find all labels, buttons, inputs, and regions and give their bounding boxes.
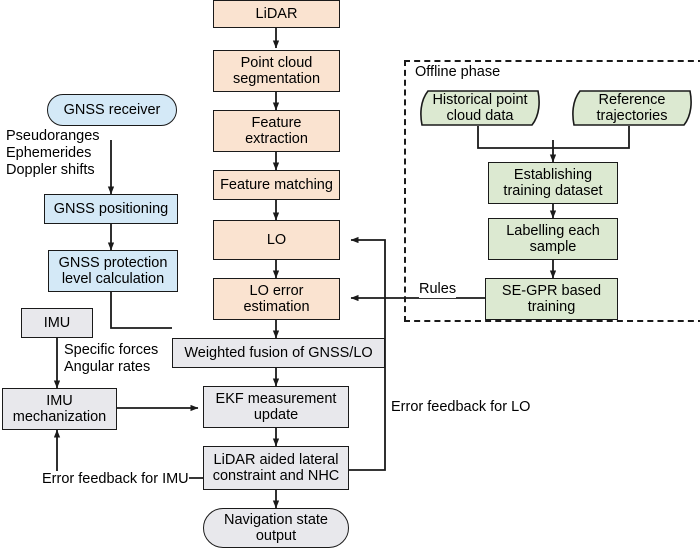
node-lo-label: LO <box>264 232 289 248</box>
node-gnss-positioning[interactable]: GNSS positioning <box>44 194 178 224</box>
node-gnss-protection-level-label: GNSS protection level calculation <box>56 255 171 287</box>
node-historical-point-cloud[interactable]: Historical point cloud data <box>418 88 542 128</box>
node-ekf-measurement-update[interactable]: EKF measurement update <box>203 386 349 428</box>
node-navigation-state-output-label: Navigation state output <box>221 512 331 544</box>
node-feature-matching-label: Feature matching <box>217 177 336 193</box>
node-lidar-aided-lateral-constraint-label: LiDAR aided lateral constraint and NHC <box>210 452 343 484</box>
node-lo-error-estimation[interactable]: LO error estimation <box>213 278 340 320</box>
node-point-cloud-segmentation-label: Point cloud segmentation <box>230 55 323 87</box>
node-segpr-based-training[interactable]: SE-GPR based training <box>485 278 618 320</box>
node-weighted-fusion[interactable]: Weighted fusion of GNSS/LO <box>172 338 385 368</box>
edge-label-error-feedback-imu: Error feedback for IMU <box>42 471 189 488</box>
node-gnss-receiver[interactable]: GNSS receiver <box>47 94 177 126</box>
node-lidar-aided-lateral-constraint[interactable]: LiDAR aided lateral constraint and NHC <box>203 446 349 490</box>
node-point-cloud-segmentation[interactable]: Point cloud segmentation <box>213 50 340 92</box>
node-lidar[interactable]: LiDAR <box>213 0 340 28</box>
node-weighted-fusion-label: Weighted fusion of GNSS/LO <box>181 345 375 361</box>
node-imu-label: IMU <box>41 315 74 331</box>
node-labelling-each-sample-label: Labelling each sample <box>503 223 603 255</box>
node-reference-trajectories-label: Reference trajectories <box>570 88 694 128</box>
offline-phase-label: Offline phase <box>412 64 503 80</box>
node-lo[interactable]: LO <box>213 220 340 260</box>
node-gnss-positioning-label: GNSS positioning <box>51 201 171 217</box>
edge-label-error-feedback-lo: Error feedback for LO <box>391 399 530 416</box>
edge-label-rules: Rules <box>419 281 456 298</box>
node-reference-trajectories[interactable]: Reference trajectories <box>570 88 694 128</box>
node-segpr-based-training-label: SE-GPR based training <box>499 283 604 315</box>
node-establishing-training-dataset-label: Establishing training dataset <box>500 167 605 199</box>
node-gnss-receiver-label: GNSS receiver <box>61 102 164 118</box>
node-historical-point-cloud-label: Historical point cloud data <box>418 88 542 128</box>
node-imu-mechanization[interactable]: IMU mechanization <box>2 388 117 430</box>
node-feature-matching[interactable]: Feature matching <box>213 170 340 200</box>
node-labelling-each-sample[interactable]: Labelling each sample <box>488 218 618 260</box>
node-navigation-state-output[interactable]: Navigation state output <box>203 508 349 548</box>
node-imu-mechanization-label: IMU mechanization <box>10 393 110 425</box>
node-lidar-label: LiDAR <box>253 6 301 22</box>
node-feature-extraction[interactable]: Feature extraction <box>213 110 340 152</box>
node-ekf-measurement-update-label: EKF measurement update <box>213 391 340 423</box>
node-imu[interactable]: IMU <box>21 308 93 338</box>
node-feature-extraction-label: Feature extraction <box>242 115 311 147</box>
node-lo-error-estimation-label: LO error estimation <box>240 283 312 315</box>
flowchart-canvas: Offline phase <box>0 0 700 550</box>
node-establishing-training-dataset[interactable]: Establishing training dataset <box>488 162 618 204</box>
edge-label-gnss-observables: Pseudoranges Ephemerides Doppler shifts <box>6 128 100 178</box>
edge-label-imu-observables: Specific forces Angular rates <box>64 342 158 376</box>
node-gnss-protection-level[interactable]: GNSS protection level calculation <box>48 250 178 292</box>
